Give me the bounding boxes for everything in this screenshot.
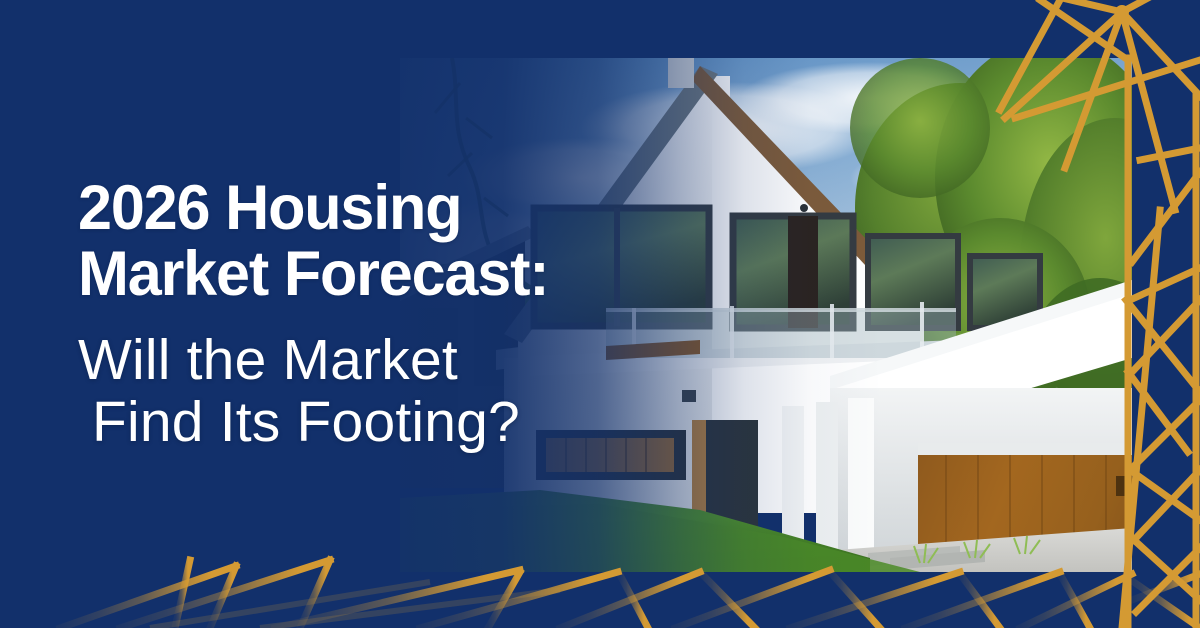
subheadline-line-1: Will the Market xyxy=(78,328,458,392)
subheadline-line-2: Find Its Footing? xyxy=(78,391,718,453)
hero-banner: 2026 Housing Market Forecast: Will the M… xyxy=(0,0,1200,628)
subheadline: Will the Market Find Its Footing? xyxy=(78,329,718,453)
headline-line-1: 2026 Housing xyxy=(78,175,699,241)
hero-text-block: 2026 Housing Market Forecast: Will the M… xyxy=(78,175,718,453)
headline-line-2: Market Forecast: xyxy=(78,241,699,307)
